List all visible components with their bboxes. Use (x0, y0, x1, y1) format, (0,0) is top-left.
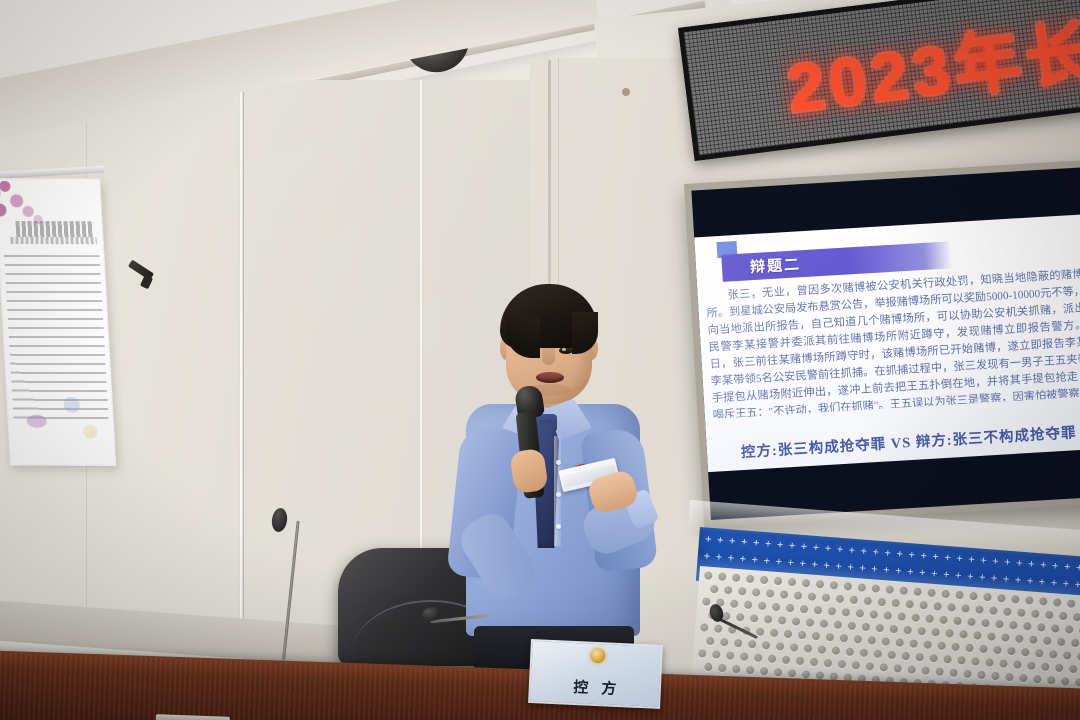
panel-perforation (828, 607, 837, 616)
desk-nameplate: 控方 (528, 639, 663, 709)
panel-perforation (858, 583, 867, 592)
decor-cross-icon: + (1028, 559, 1035, 570)
poster-body-text (4, 255, 109, 425)
panel-perforation (852, 661, 861, 670)
shirt-button (556, 460, 561, 465)
panel-perforation (1019, 674, 1028, 683)
decor-cross-icon: + (944, 553, 951, 564)
panel-perforation (704, 663, 713, 672)
panel-perforation (814, 606, 823, 615)
panel-perforation (927, 589, 936, 598)
panel-perforation (909, 639, 918, 648)
decor-cross-icon: + (836, 545, 843, 556)
panel-perforation (840, 634, 849, 643)
panel-perforation (772, 603, 781, 612)
panel-perforation (712, 650, 721, 659)
panel-perforation (887, 651, 896, 660)
decor-cross-icon: + (967, 572, 974, 583)
panel-perforation (981, 619, 990, 628)
panel-perforation (885, 585, 894, 594)
panel-perforation (1031, 610, 1040, 619)
panel-perforation (800, 605, 809, 614)
decor-cross-icon: + (776, 540, 783, 551)
national-emblem-icon (590, 648, 606, 664)
decor-cross-icon: + (812, 543, 819, 554)
panel-perforation (971, 657, 980, 666)
panel-perforation (804, 644, 813, 653)
panel-perforation (901, 652, 910, 661)
decor-cross-icon: + (1038, 577, 1045, 588)
panel-perforation (758, 602, 767, 611)
presentation-slide: 辩题二 张三，无业，曾因多次赌博被公安机关行政处罚，知晓当地隐蔽的赌博场所。到星… (694, 214, 1080, 473)
poster-subtitle-line (10, 237, 97, 244)
panel-perforation (1073, 613, 1080, 622)
panel-perforation (879, 663, 888, 672)
decor-cross-icon: + (705, 534, 712, 545)
decor-cross-icon: + (788, 541, 795, 552)
decor-cross-icon: + (895, 566, 902, 577)
decor-cross-icon: + (739, 554, 746, 565)
panel-perforation (754, 653, 763, 662)
panel-perforation (782, 656, 791, 665)
panel-perforation (764, 615, 773, 624)
decor-cross-icon: + (990, 573, 997, 584)
decor-cross-icon: + (860, 546, 867, 557)
panel-perforation (959, 630, 968, 639)
panel-perforation (1003, 607, 1012, 616)
panel-perforation (776, 642, 785, 651)
panel-perforation (746, 575, 755, 584)
decor-cross-icon: + (1074, 580, 1080, 591)
panel-perforation (1005, 673, 1014, 682)
panel-perforation (973, 631, 982, 640)
projector-screen: 辩题二 张三，无业，曾因多次赌博被公安机关行政处罚，知晓当地隐蔽的赌博场所。到星… (684, 159, 1080, 527)
panel-perforation (1041, 662, 1050, 671)
slide-title: 辩题二 (749, 253, 801, 277)
panel-perforation (778, 616, 787, 625)
panel-perforation (838, 660, 847, 669)
panel-perforation (915, 653, 924, 662)
panel-perforation (1055, 664, 1064, 673)
shirt-button (556, 524, 561, 529)
decor-cross-icon: + (787, 558, 794, 569)
panel-perforation (1037, 623, 1046, 632)
panel-perforation (806, 618, 815, 627)
decor-cross-icon: + (811, 560, 818, 571)
panel-perforation (877, 598, 886, 607)
panel-perforation (848, 622, 857, 631)
decor-cross-icon: + (943, 570, 950, 581)
panel-perforation (985, 658, 994, 667)
panel-perforation (907, 665, 916, 674)
panel-perforation (860, 649, 869, 658)
decor-cross-icon: + (740, 537, 747, 548)
panel-perforation (740, 652, 749, 661)
poster-title-line (15, 221, 94, 237)
panel-perforation (706, 637, 715, 646)
panel-perforation (816, 580, 825, 589)
panel-perforation (746, 666, 755, 675)
panel-perforation (917, 627, 926, 636)
panel-perforation (1023, 622, 1032, 631)
decor-cross-icon: + (751, 555, 758, 566)
panel-perforation (969, 592, 978, 601)
panel-perforation (911, 613, 920, 622)
panel-perforation (780, 590, 789, 599)
panel-perforation (893, 664, 902, 673)
panel-perforation (792, 617, 801, 626)
panel-perforation (957, 656, 966, 665)
panel-perforation (949, 668, 958, 677)
panel-perforation (1069, 665, 1078, 674)
panel-perforation (993, 646, 1002, 655)
panel-perforation (941, 590, 950, 599)
decor-cross-icon: + (896, 549, 903, 560)
panel-perforation (826, 633, 835, 642)
panel-perforation (824, 659, 833, 668)
panel-perforation (820, 619, 829, 628)
panel-perforation (937, 641, 946, 650)
panel-perforation (1051, 624, 1060, 633)
panel-perforation (822, 593, 831, 602)
panel-perforation (975, 605, 984, 614)
panel-perforation (760, 576, 769, 585)
panel-perforation (979, 645, 988, 654)
panel-perforation (1033, 675, 1042, 684)
decor-cross-icon: + (800, 542, 807, 553)
panel-perforation (1029, 635, 1038, 644)
panel-perforation (1015, 634, 1024, 643)
panel-perforation (734, 639, 743, 648)
decor-cross-icon: + (775, 557, 782, 568)
poster-dot (83, 425, 98, 439)
panel-perforation (1001, 633, 1010, 642)
panel-perforation (752, 588, 761, 597)
panel-perforation (760, 667, 769, 676)
panel-perforation (1007, 647, 1016, 656)
panel-perforation (732, 574, 741, 583)
panel-perforation (1013, 660, 1022, 669)
panel-perforation (1009, 621, 1018, 630)
panel-perforation (856, 609, 865, 618)
decor-cross-icon: + (763, 556, 770, 567)
panel-perforation (1027, 661, 1036, 670)
panel-perforation (1057, 638, 1066, 647)
panel-perforation (951, 643, 960, 652)
decor-cross-icon: + (847, 562, 854, 573)
panel-perforation (929, 654, 938, 663)
panel-perforation (991, 672, 1000, 681)
panel-perforation (1075, 678, 1080, 687)
panel-perforation (796, 657, 805, 666)
panel-perforation (864, 597, 873, 606)
panel-perforation (967, 618, 976, 627)
panel-perforation (977, 671, 986, 680)
decor-cross-icon: + (955, 571, 962, 582)
decor-cross-icon: + (872, 547, 879, 558)
decor-cross-icon: + (717, 535, 724, 546)
decor-cross-icon: + (884, 548, 891, 559)
panel-perforation (963, 670, 972, 679)
decor-cross-icon: + (1014, 575, 1021, 586)
panel-perforation (965, 644, 974, 653)
panel-perforation (868, 636, 877, 645)
panel-perforation (939, 616, 948, 625)
courtroom-photo: 2023年长 辩题二 张三，无业，曾因多次赌博被公安机关行政处罚，知晓当地隐蔽的… (0, 0, 1080, 720)
panel-perforation (891, 599, 900, 608)
decor-cross-icon: + (835, 562, 842, 573)
poster-dot (26, 415, 47, 428)
panel-perforation (961, 604, 970, 613)
projector-screen-display: 辩题二 张三，无业，曾因多次赌博被公安机关行政处罚，知晓当地隐蔽的赌博场所。到星… (691, 167, 1080, 520)
panel-perforation (808, 592, 817, 601)
wall-poster (0, 178, 116, 466)
panel-perforation (953, 617, 962, 626)
panel-perforation (1061, 677, 1070, 686)
panel-perforation (1035, 649, 1044, 658)
panel-perforation (903, 626, 912, 635)
panel-perforation (714, 624, 723, 633)
panel-perforation (895, 638, 904, 647)
panel-perforation (869, 610, 878, 619)
panel-perforation (945, 629, 954, 638)
mouth (536, 372, 564, 383)
panel-perforation (702, 597, 711, 606)
panel-perforation (883, 611, 892, 620)
panel-perforation (784, 630, 793, 639)
nose (542, 346, 555, 365)
panel-perforation (995, 620, 1004, 629)
panel-perforation (790, 643, 799, 652)
panel-perforation (710, 585, 719, 594)
panel-perforation (810, 658, 819, 667)
panel-perforation (794, 591, 803, 600)
decor-cross-icon: + (1050, 578, 1057, 589)
panel-perforation (933, 602, 942, 611)
decor-cross-icon: + (883, 565, 890, 576)
panel-perforation (881, 637, 890, 646)
decor-cross-icon: + (920, 551, 927, 562)
panel-perforation (836, 595, 845, 604)
panel-perforation (1049, 650, 1058, 659)
panel-perforation (726, 651, 735, 660)
panel-perforation (866, 662, 875, 671)
decor-cross-icon: + (715, 552, 722, 563)
decor-cross-icon: + (1076, 563, 1080, 574)
panel-perforation (698, 649, 707, 658)
panel-perforation (736, 613, 745, 622)
panel-perforation (943, 655, 952, 664)
nameplate-label: 控方 (560, 675, 630, 699)
decor-cross-icon: + (968, 555, 975, 566)
slide-debate-positions: 控方:张三构成抢夺罪 VS 辩方:张三不构成抢夺罪 (706, 419, 1080, 464)
panel-perforation (748, 640, 757, 649)
panel-perforation (875, 624, 884, 633)
panel-perforation (1059, 612, 1068, 621)
decor-cross-icon: + (764, 539, 771, 550)
panel-perforation (899, 586, 908, 595)
panel-perforation (871, 584, 880, 593)
panel-perforation (905, 600, 914, 609)
panel-perforation (1043, 637, 1052, 646)
decor-cross-icon: + (980, 556, 987, 567)
panel-perforation (1065, 625, 1074, 634)
poster-dot (63, 397, 80, 413)
panel-perforation (846, 647, 855, 656)
panel-perforation (921, 666, 930, 675)
panel-perforation (774, 668, 783, 677)
panel-perforation (1063, 651, 1072, 660)
panel-perforation (1017, 608, 1026, 617)
panel-perforation (1011, 595, 1020, 604)
panel-perforation (744, 601, 753, 610)
panel-perforation (925, 614, 934, 623)
panel-perforation (724, 586, 733, 595)
panel-perforation (774, 577, 783, 586)
panel-perforation (923, 640, 932, 649)
panel-perforation (919, 601, 928, 610)
panel-perforation (700, 623, 709, 632)
wall-blemish (622, 88, 630, 96)
panel-perforation (768, 655, 777, 664)
panel-perforation (720, 638, 729, 647)
decor-cross-icon: + (1026, 576, 1033, 587)
panel-perforation (854, 635, 863, 644)
panel-perforation (931, 628, 940, 637)
panel-perforation (704, 571, 713, 580)
decor-cross-icon: + (908, 550, 915, 561)
slide-body-text: 张三，无业，曾因多次赌博被公安机关行政处罚，知晓当地隐蔽的赌博场所。到星城公安局… (705, 266, 1080, 419)
panel-perforation (983, 593, 992, 602)
decor-cross-icon: + (1062, 579, 1069, 590)
decor-cross-icon: + (848, 545, 855, 556)
decor-cross-icon: + (727, 553, 734, 564)
panel-perforation (862, 623, 871, 632)
decor-cross-icon: + (931, 569, 938, 580)
panel-perforation (730, 599, 739, 608)
panel-perforation (788, 669, 797, 678)
panel-perforation (1025, 596, 1034, 605)
decor-cross-icon: + (824, 544, 831, 555)
shirt-button (556, 492, 561, 497)
decor-cross-icon: + (871, 564, 878, 575)
panel-perforation (999, 659, 1008, 668)
decor-cross-icon: + (729, 536, 736, 547)
decor-cross-icon: + (799, 559, 806, 570)
panel-perforation (812, 632, 821, 641)
decor-cross-icon: + (978, 573, 985, 584)
decor-cross-icon: + (919, 568, 926, 579)
panel-perforation (798, 631, 807, 640)
decor-cross-icon: + (859, 563, 866, 574)
panel-perforation (842, 608, 851, 617)
decor-cross-icon: + (956, 554, 963, 565)
panel-perforation (1045, 611, 1054, 620)
panel-perforation (830, 581, 839, 590)
panel-perforation (1071, 639, 1080, 648)
panel-perforation (850, 596, 859, 605)
panel-perforation (802, 579, 811, 588)
decor-cross-icon: + (703, 551, 710, 562)
decor-cross-icon: + (1004, 557, 1011, 568)
decor-cross-icon: + (1052, 561, 1059, 572)
decor-cross-icon: + (1016, 558, 1023, 569)
right-eye-highlight (562, 348, 566, 351)
panel-perforation (834, 620, 843, 629)
panel-perforation (987, 632, 996, 641)
panel-perforation (786, 604, 795, 613)
decor-cross-icon: + (823, 561, 830, 572)
panel-perforation (770, 629, 779, 638)
shirt-placket (554, 436, 561, 546)
decor-cross-icon: + (932, 552, 939, 563)
decor-cross-icon: + (1002, 574, 1009, 585)
panel-perforation (832, 646, 841, 655)
decor-cross-icon: + (752, 538, 759, 549)
panel-perforation (889, 625, 898, 634)
panel-perforation (756, 628, 765, 637)
panel-perforation (1047, 676, 1056, 685)
panel-perforation (955, 591, 964, 600)
panel-perforation (766, 589, 775, 598)
panel-perforation (844, 582, 853, 591)
panel-perforation (1021, 648, 1030, 657)
panel-perforation (718, 572, 727, 581)
decor-cross-icon: + (907, 567, 914, 578)
panel-perforation (947, 603, 956, 612)
decor-cross-icon: + (992, 557, 999, 568)
panel-perforation (762, 641, 771, 650)
panel-perforation (913, 587, 922, 596)
panel-perforation (738, 587, 747, 596)
panel-perforation (1039, 597, 1048, 606)
panel-perforation (718, 664, 727, 673)
panel-perforation (997, 594, 1006, 603)
panel-perforation (750, 614, 759, 623)
panel-perforation (818, 645, 827, 654)
panel-perforation (732, 665, 741, 674)
decor-cross-icon: + (1064, 562, 1071, 573)
decor-cross-icon: + (1040, 560, 1047, 571)
panel-perforation (989, 606, 998, 615)
panel-perforation (935, 667, 944, 676)
panel-perforation (1067, 599, 1076, 608)
panel-perforation (873, 650, 882, 659)
panel-perforation (802, 670, 811, 679)
panel-perforation (1053, 598, 1062, 607)
panel-perforation (788, 578, 797, 587)
panel-perforation (897, 612, 906, 621)
